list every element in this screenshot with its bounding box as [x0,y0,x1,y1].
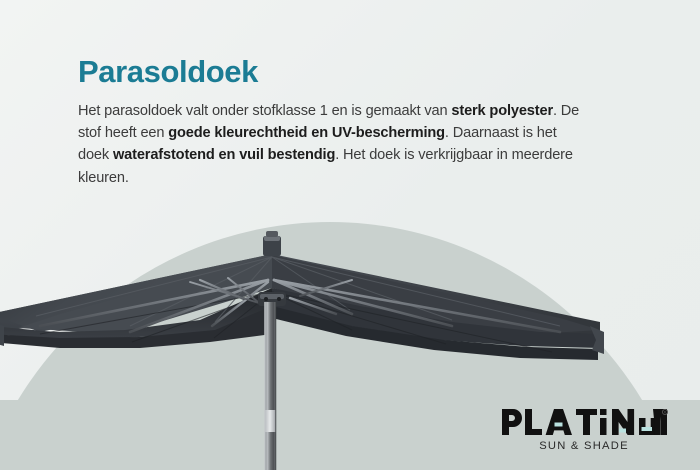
body-paragraph: Het parasoldoek valt onder stofklasse 1 … [78,100,588,189]
body-text: Het parasoldoek valt onder stofklasse 1 … [78,103,451,119]
parasol-pole [264,302,276,470]
body-emphasis: goede kleurechtheid en UV-bescherming [168,125,445,141]
body-emphasis: sterk polyester [451,103,553,119]
logo-accent-a [555,423,563,427]
parasol-finial [263,231,281,256]
product-banner: Parasoldoek Het parasoldoek valt onder s… [0,0,700,470]
text-block: Parasoldoek Het parasoldoek valt onder s… [78,56,598,189]
body-emphasis: waterafstotend en vuil bestendig [113,147,335,163]
logo-tagline: SUN & SHADE [494,440,674,452]
brand-logo: R SUN & SHADE [494,407,674,452]
logo-accent-u [642,427,653,431]
parasol-canopy [0,254,604,360]
logo-wordmark: R [494,407,674,437]
logo-accent-n [619,429,626,433]
page-title: Parasoldoek [78,56,598,89]
